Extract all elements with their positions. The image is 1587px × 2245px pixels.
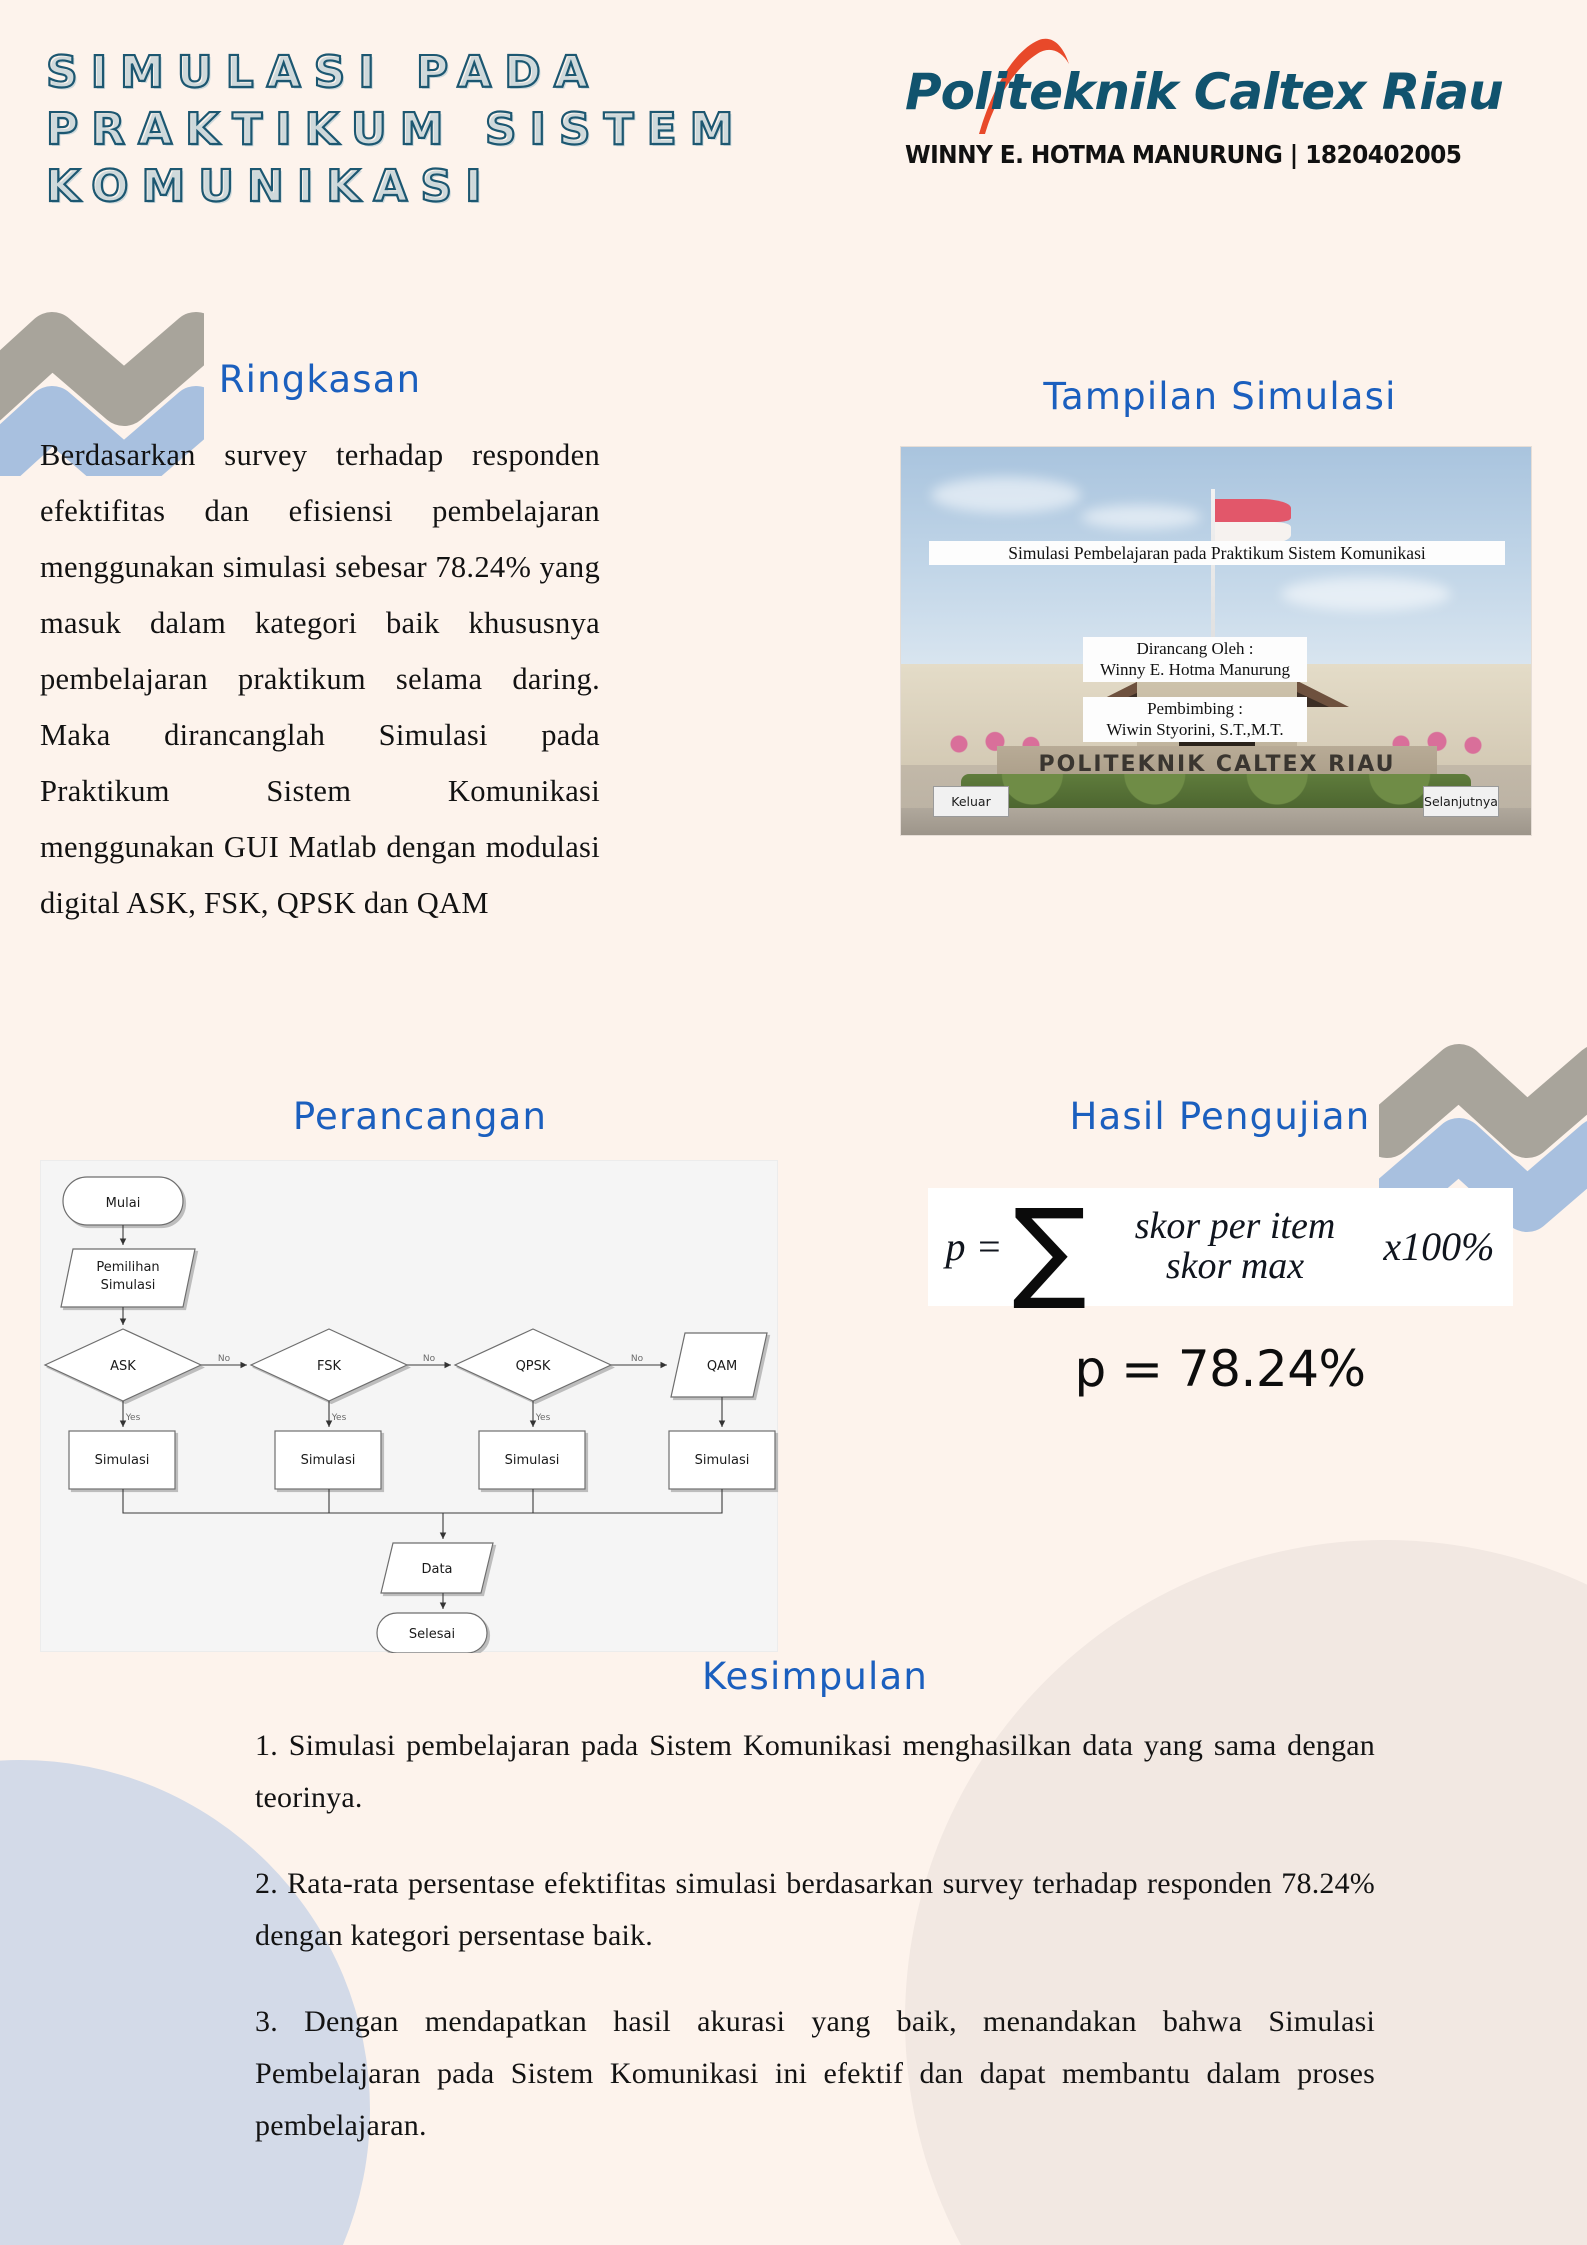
svg-text:Simulasi: Simulasi xyxy=(505,1453,560,1468)
svg-text:QAM: QAM xyxy=(707,1359,737,1374)
svg-text:Selesai: Selesai xyxy=(409,1627,455,1642)
author-line: WINNY E. HOTMA MANURUNG | 1820402005 xyxy=(905,140,1500,169)
svg-text:Yes: Yes xyxy=(535,1413,551,1423)
svg-text:Mulai: Mulai xyxy=(106,1196,141,1211)
formula-fraction: skor per item skor max xyxy=(1097,1207,1374,1287)
section-perancangan: Perancangan xyxy=(40,1095,800,1652)
formula-equals: = xyxy=(976,1223,1003,1270)
section-heading-kesimpulan: Kesimpulan xyxy=(255,1655,1375,1698)
gui-supervisor-line2: Wiwin Styorini, S.T.,M.T. xyxy=(1089,719,1301,740)
section-heading-hasil-pengujian: Hasil Pengujian xyxy=(900,1095,1540,1138)
svg-text:Pemilihan: Pemilihan xyxy=(96,1260,159,1275)
formula-tail: x100% xyxy=(1383,1223,1494,1270)
conclusion-item: 3. Dengan mendapatkan hasil akurasi yang… xyxy=(255,1996,1375,2152)
section-hasil-pengujian: Hasil Pengujian p = ∑ skor per item skor… xyxy=(900,1095,1540,1398)
svg-text:QPSK: QPSK xyxy=(516,1359,551,1374)
gui-designer-line1: Dirancang Oleh : xyxy=(1089,638,1301,659)
formula-denominator: skor max xyxy=(1160,1245,1310,1287)
section-ringkasan: Ringkasan Berdasarkan survey terhadap re… xyxy=(40,358,600,931)
svg-text:Simulasi: Simulasi xyxy=(301,1453,356,1468)
svg-text:No: No xyxy=(631,1354,644,1364)
brand-block: Politeknik Caltex Riau WINNY E. HOTMA MA… xyxy=(905,48,1545,169)
cloud-decoration xyxy=(1281,577,1451,611)
svg-text:Simulasi: Simulasi xyxy=(95,1453,150,1468)
indonesian-flag-icon xyxy=(1215,499,1291,545)
section-kesimpulan: Kesimpulan 1. Simulasi pembelajaran pada… xyxy=(255,1655,1375,2152)
logo-text: Politeknik Caltex Riau xyxy=(905,63,1503,121)
formula-image: p = ∑ skor per item skor max x100% xyxy=(928,1188,1513,1306)
cloud-decoration xyxy=(1081,505,1201,529)
gui-next-button[interactable]: Selanjutnya xyxy=(1423,786,1499,817)
gui-supervisor-line1: Pembimbing : xyxy=(1089,698,1301,719)
institution-logo: Politeknik Caltex Riau xyxy=(905,48,1545,136)
section-heading-tampilan-simulasi: Tampilan Simulasi xyxy=(900,375,1540,418)
svg-text:No: No xyxy=(423,1354,436,1364)
svg-text:FSK: FSK xyxy=(317,1359,342,1374)
gui-designer-line2: Winny E. Hotma Manurung xyxy=(1089,659,1301,680)
conclusion-item: 1. Simulasi pembelajaran pada Sistem Kom… xyxy=(255,1720,1375,1824)
poster-header: SIMULASI PADA PRAKTIKUM SISTEM KOMUNIKAS… xyxy=(0,0,1587,260)
formula-numerator: skor per item xyxy=(1129,1205,1342,1247)
gui-designer-label: Dirancang Oleh : Winny E. Hotma Manurung xyxy=(1083,637,1307,682)
formula-lhs: p xyxy=(946,1223,966,1270)
svg-text:Yes: Yes xyxy=(331,1413,347,1423)
gui-title-label: Simulasi Pembelajaran pada Praktikum Sis… xyxy=(929,541,1505,565)
cloud-decoration xyxy=(931,477,1081,513)
gui-supervisor-label: Pembimbing : Wiwin Styorini, S.T.,M.T. xyxy=(1083,697,1307,742)
svg-text:ASK: ASK xyxy=(110,1359,136,1374)
hedge-row xyxy=(961,774,1471,808)
section-heading-perancangan: Perancangan xyxy=(40,1095,800,1138)
svg-text:Data: Data xyxy=(421,1562,452,1577)
flowchart-diagram: Mulai Pemilihan Simulasi ASK FSK QPSK QA… xyxy=(40,1160,778,1652)
svg-text:Simulasi: Simulasi xyxy=(695,1453,750,1468)
section-tampilan-simulasi: Tampilan Simulasi POLITEKNIK CALTEX RIAU… xyxy=(900,375,1540,836)
page-title: SIMULASI PADA PRAKTIKUM SISTEM KOMUNIKAS… xyxy=(46,44,886,216)
gui-exit-button[interactable]: Keluar xyxy=(933,786,1009,817)
summation-icon: ∑ xyxy=(1013,1207,1087,1293)
svg-text:No: No xyxy=(218,1354,231,1364)
result-value: p = 78.24% xyxy=(900,1340,1540,1398)
svg-text:Yes: Yes xyxy=(125,1413,141,1423)
ringkasan-body-text: Berdasarkan survey terhadap responden ef… xyxy=(40,427,600,931)
conclusion-item: 2. Rata-rata persentase efektifitas simu… xyxy=(255,1858,1375,1962)
svg-text:Simulasi: Simulasi xyxy=(101,1278,156,1293)
section-heading-ringkasan: Ringkasan xyxy=(40,358,600,401)
simulation-screenshot: POLITEKNIK CALTEX RIAU Simulasi Pembelaj… xyxy=(900,446,1532,836)
